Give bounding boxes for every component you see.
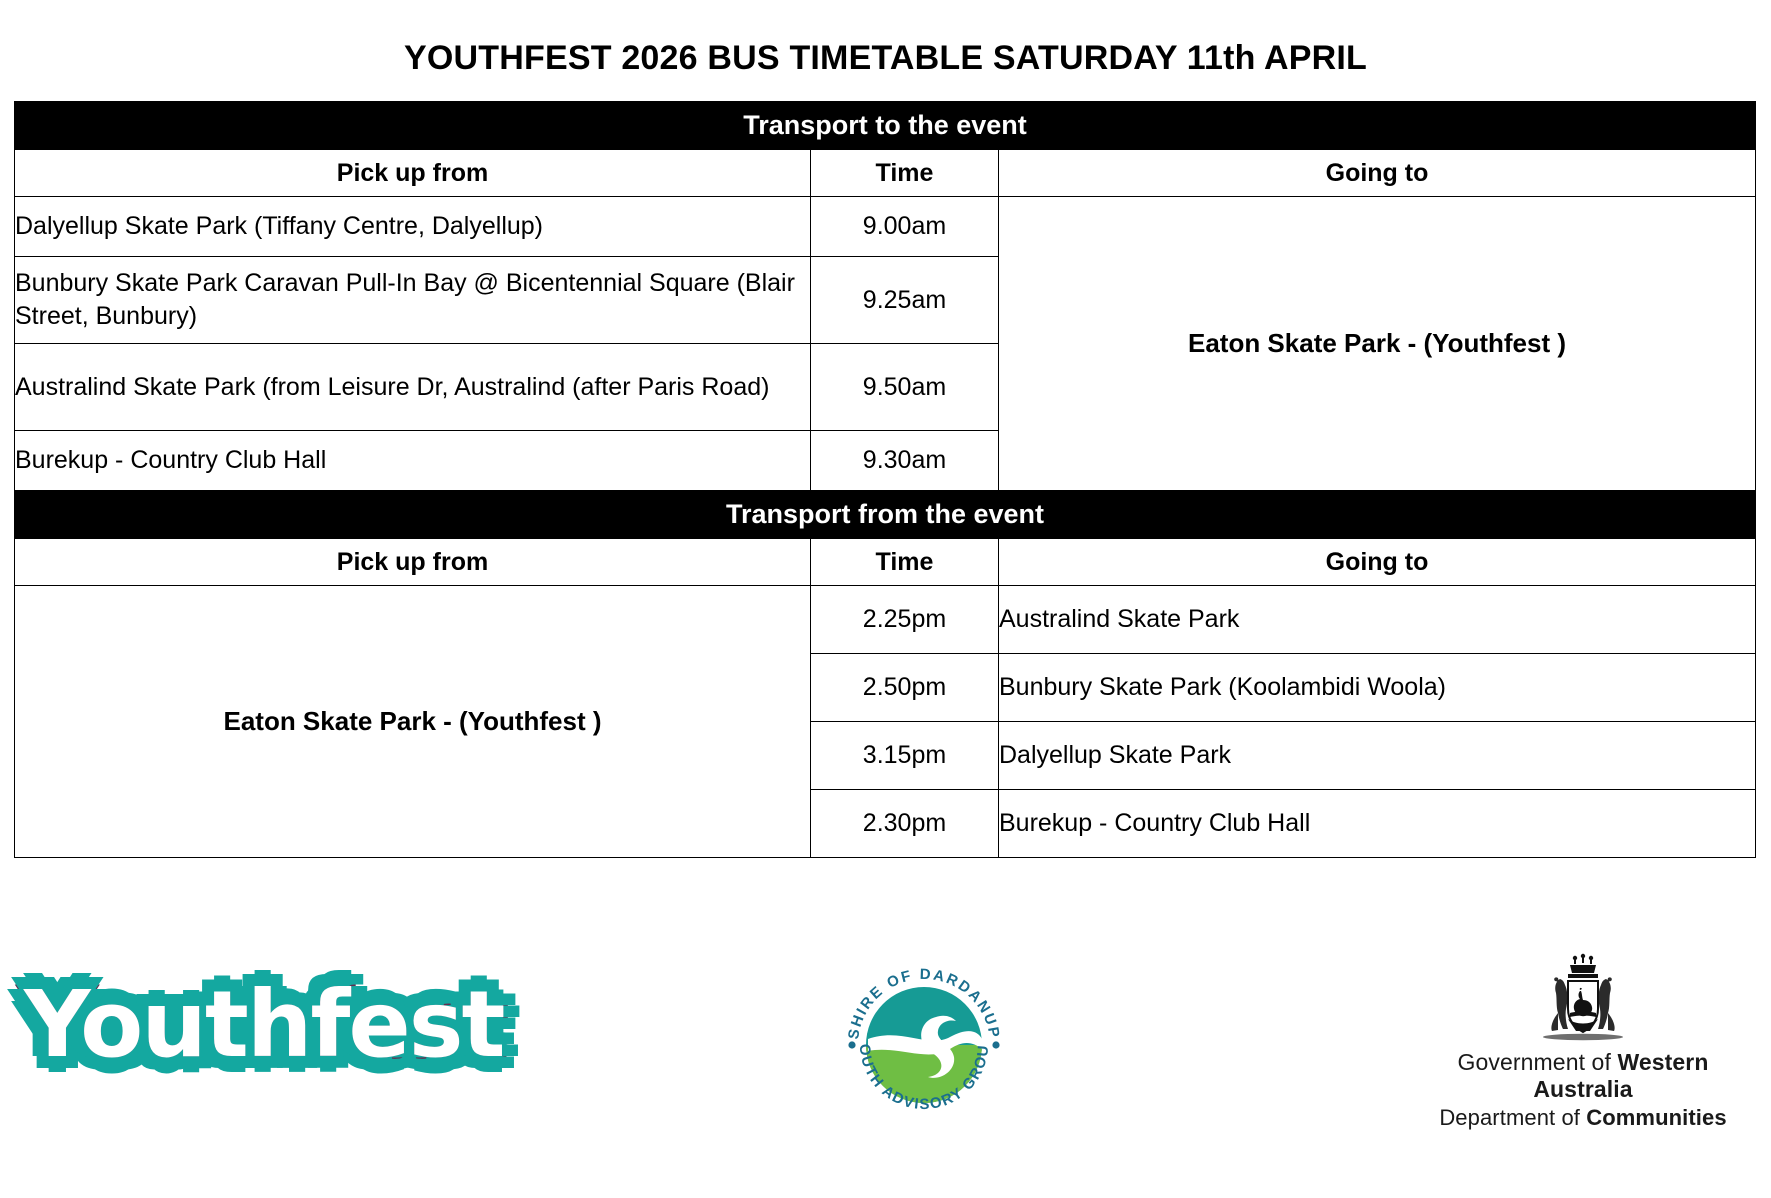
gov-line2-light: Department of	[1439, 1105, 1586, 1130]
section-band-row: Transport to the event	[15, 102, 1756, 150]
page-title: YOUTHFEST 2026 BUS TIMETABLE SATURDAY 11…	[0, 0, 1771, 77]
section-band-from-event: Transport from the event	[15, 491, 1756, 539]
pickup-location: Australind Skate Park (from Leisure Dr, …	[15, 344, 811, 431]
header-going-to: Going to	[999, 539, 1756, 586]
government-wa-logo: Government of Western Australia Departme…	[1418, 951, 1748, 1131]
pickup-time: 9.25am	[811, 257, 999, 344]
origin-merged-cell: Eaton Skate Park - (Youthfest )	[15, 586, 811, 858]
gov-line1-light: Government of	[1458, 1049, 1618, 1075]
pickup-time: 9.30am	[811, 431, 999, 491]
section-band-to-event: Transport to the event	[15, 102, 1756, 150]
return-destination: Burekup - Country Club Hall	[999, 790, 1756, 858]
column-header-row: Pick up from Time Going to	[15, 539, 1756, 586]
gov-line-1: Government of Western Australia	[1418, 1049, 1748, 1103]
pickup-time: 9.50am	[811, 344, 999, 431]
header-time: Time	[811, 150, 999, 197]
bus-timetable: Transport to the event Pick up from Time…	[14, 101, 1756, 858]
return-destination: Bunbury Skate Park (Koolambidi Woola)	[999, 654, 1756, 722]
return-time: 2.25pm	[811, 586, 999, 654]
youthfest-logo: Youthfest	[10, 955, 490, 1095]
header-time: Time	[811, 539, 999, 586]
return-time: 2.30pm	[811, 790, 999, 858]
return-time: 2.50pm	[811, 654, 999, 722]
return-time: 3.15pm	[811, 722, 999, 790]
shire-roundel-icon: SHIRE OF DARDANUP YOUTH ADVISORY GROUP	[832, 953, 1016, 1137]
pickup-time: 9.00am	[811, 197, 999, 257]
wa-coat-of-arms-icon	[1518, 951, 1648, 1047]
header-pickup-from: Pick up from	[15, 150, 811, 197]
pickup-location: Dalyellup Skate Park (Tiffany Centre, Da…	[15, 197, 811, 257]
destination-merged-cell: Eaton Skate Park - (Youthfest )	[999, 197, 1756, 491]
return-destination: Australind Skate Park	[999, 586, 1756, 654]
table-row: Dalyellup Skate Park (Tiffany Centre, Da…	[15, 197, 1756, 257]
pickup-location: Burekup - Country Club Hall	[15, 431, 811, 491]
youthfest-wordmark: Youthfest	[10, 955, 490, 1095]
pickup-location: Bunbury Skate Park Caravan Pull-In Bay @…	[15, 257, 811, 344]
gov-line2-bold: Communities	[1586, 1105, 1726, 1130]
column-header-row: Pick up from Time Going to	[15, 150, 1756, 197]
section-band-row: Transport from the event	[15, 491, 1756, 539]
return-destination: Dalyellup Skate Park	[999, 722, 1756, 790]
header-pickup-from: Pick up from	[15, 539, 811, 586]
header-going-to: Going to	[999, 150, 1756, 197]
gov-line-2: Department of Communities	[1418, 1105, 1748, 1131]
shire-of-dardanup-logo: SHIRE OF DARDANUP YOUTH ADVISORY GROUP	[832, 953, 1016, 1137]
table-row: Eaton Skate Park - (Youthfest ) 2.25pm A…	[15, 586, 1756, 654]
logo-strip: Youthfest SHIRE OF DARDANUP YOUTH ADVISO…	[0, 945, 1771, 1145]
